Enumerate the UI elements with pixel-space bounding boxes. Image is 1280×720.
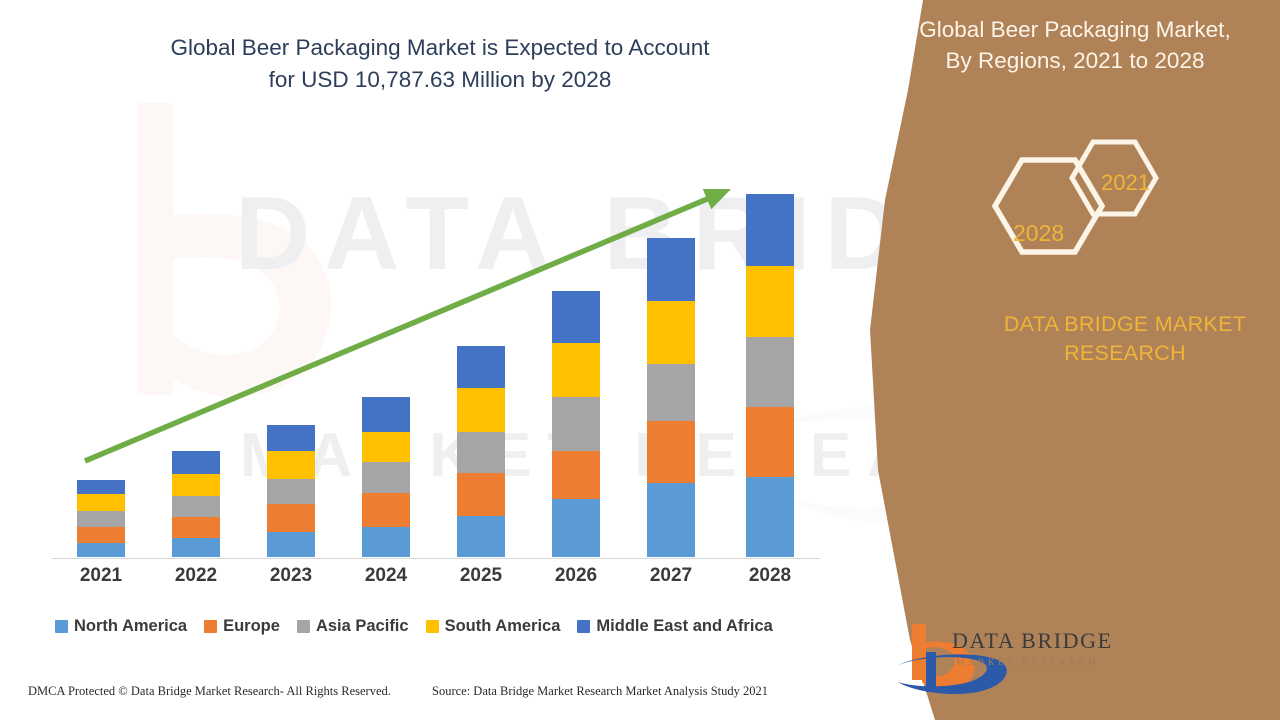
legend-swatch-icon <box>297 620 310 633</box>
legend-swatch-icon <box>55 620 68 633</box>
panel-title-line-2: By Regions, 2021 to 2028 <box>890 45 1260 76</box>
chart-legend: North AmericaEuropeAsia PacificSouth Ame… <box>55 617 773 636</box>
hexagon-outlines-icon <box>975 125 1205 295</box>
infographic-canvas: DATA BRIDGE MARKET RESEARCH Global Beer … <box>0 0 1280 720</box>
legend-item-south-america[interactable]: South America <box>426 617 561 636</box>
brand-line-2: RESEARCH <box>1000 339 1250 368</box>
legend-label: South America <box>445 617 561 636</box>
panel-title-line-1: Global Beer Packaging Market, <box>919 17 1230 42</box>
growth-trend-arrow-icon <box>0 0 860 600</box>
legend-swatch-icon <box>426 620 439 633</box>
brand-line-1: DATA BRIDGE MARKET <box>1004 312 1246 336</box>
hexagon-2021-label: 2021 <box>1101 170 1150 196</box>
hexagon-2028-label: 2028 <box>1013 220 1064 247</box>
legend-label: Europe <box>223 617 280 636</box>
legend-swatch-icon <box>577 620 590 633</box>
hexagon-badges: 2021 2028 <box>975 125 1205 295</box>
logo-tagline: MARKET RESEARCH <box>956 658 1099 668</box>
legend-label: Middle East and Africa <box>596 617 772 636</box>
legend-label: North America <box>74 617 187 636</box>
stacked-bar-chart: 20212022202320242025202620272028 <box>0 0 860 720</box>
brand-name: DATA BRIDGE MARKET RESEARCH <box>1000 310 1250 368</box>
logo-wordmark: DATA BRIDGE <box>952 628 1113 654</box>
legend-label: Asia Pacific <box>316 617 409 636</box>
legend-item-asia-pacific[interactable]: Asia Pacific <box>297 617 409 636</box>
legend-swatch-icon <box>204 620 217 633</box>
arrow-shaft <box>85 197 713 461</box>
legend-item-north-america[interactable]: North America <box>55 617 187 636</box>
copyright-notice: DMCA Protected © Data Bridge Market Rese… <box>28 684 391 699</box>
panel-subtitle: Global Beer Packaging Market, By Regions… <box>890 14 1260 76</box>
legend-item-middle-east-and-africa[interactable]: Middle East and Africa <box>577 617 772 636</box>
source-notice: Source: Data Bridge Market Research Mark… <box>432 684 768 699</box>
legend-item-europe[interactable]: Europe <box>204 617 280 636</box>
